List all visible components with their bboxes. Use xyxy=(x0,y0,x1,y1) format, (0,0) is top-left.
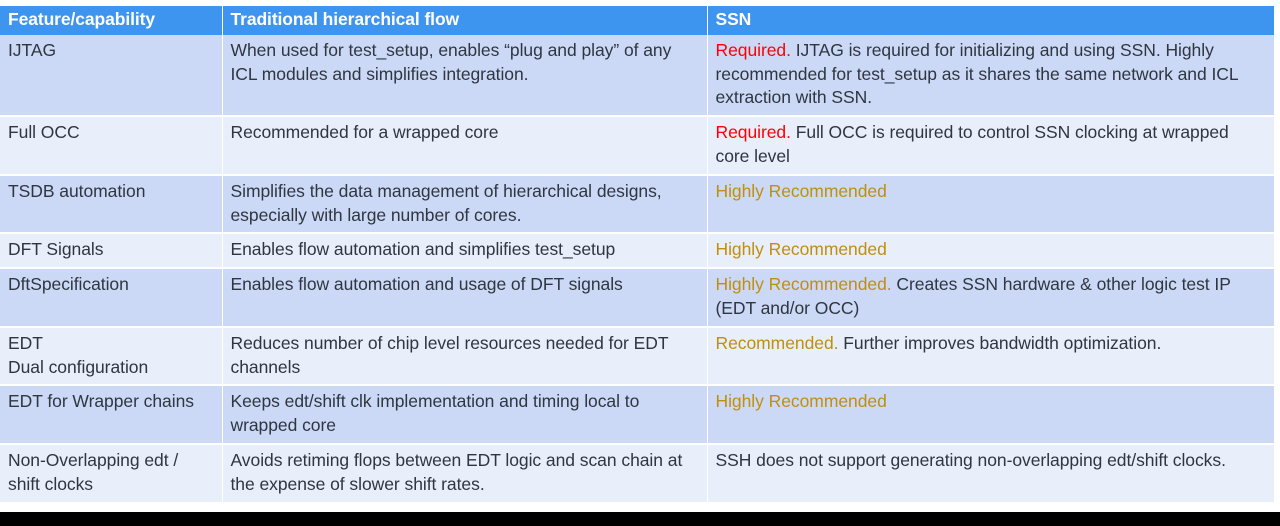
cell-traditional-flow: Keeps edt/shift clk implementation and t… xyxy=(222,385,707,444)
cell-traditional-flow: Recommended for a wrapped core xyxy=(222,116,707,175)
cell-feature: EDTDual configuration xyxy=(0,327,222,386)
cell-feature: Full OCC xyxy=(0,116,222,175)
comparison-table: Feature/capability Traditional hierarchi… xyxy=(0,6,1274,504)
cell-ssn: Highly Recommended xyxy=(707,385,1274,444)
cell-ssn: Highly Recommended xyxy=(707,233,1274,268)
cell-feature: DFT Signals xyxy=(0,233,222,268)
ssn-detail-text: Further improves bandwidth optimization. xyxy=(838,333,1161,353)
slide-canvas: Feature/capability Traditional hierarchi… xyxy=(0,0,1280,526)
cell-ssn: SSH does not support generating non-over… xyxy=(707,444,1274,503)
ssn-detail-text: IJTAG is required for initializing and u… xyxy=(716,40,1238,108)
ssn-status-label: Required. xyxy=(716,40,791,60)
cell-feature: TSDB automation xyxy=(0,175,222,234)
column-header-traditional-flow: Traditional hierarchical flow xyxy=(222,6,707,35)
cell-ssn: Recommended. Further improves bandwidth … xyxy=(707,327,1274,386)
table-row: IJTAGWhen used for test_setup, enables “… xyxy=(0,35,1274,116)
ssn-status-label: Highly Recommended xyxy=(716,181,887,201)
cell-ssn: Required. IJTAG is required for initiali… xyxy=(707,35,1274,116)
table-header-row: Feature/capability Traditional hierarchi… xyxy=(0,6,1274,35)
cell-feature: EDT for Wrapper chains xyxy=(0,385,222,444)
ssn-detail-text: SSH does not support generating non-over… xyxy=(716,450,1226,470)
cell-feature: DftSpecification xyxy=(0,268,222,327)
table-row: Full OCCRecommended for a wrapped coreRe… xyxy=(0,116,1274,175)
table-row: EDTDual configurationReduces number of c… xyxy=(0,327,1274,386)
cell-ssn: Required. Full OCC is required to contro… xyxy=(707,116,1274,175)
cell-traditional-flow: Reduces number of chip level resources n… xyxy=(222,327,707,386)
table-header: Feature/capability Traditional hierarchi… xyxy=(0,6,1274,35)
cell-traditional-flow: When used for test_setup, enables “plug … xyxy=(222,35,707,116)
column-header-feature: Feature/capability xyxy=(0,6,222,35)
table-row: DftSpecificationEnables flow automation … xyxy=(0,268,1274,327)
cell-traditional-flow: Avoids retiming flops between EDT logic … xyxy=(222,444,707,503)
comparison-table-container: Feature/capability Traditional hierarchi… xyxy=(0,6,1274,504)
cell-traditional-flow: Simplifies the data management of hierar… xyxy=(222,175,707,234)
cell-ssn: Highly Recommended xyxy=(707,175,1274,234)
ssn-status-label: Highly Recommended xyxy=(716,391,887,411)
bottom-black-band xyxy=(0,512,1280,526)
table-row: DFT SignalsEnables flow automation and s… xyxy=(0,233,1274,268)
ssn-detail-text: Full OCC is required to control SSN cloc… xyxy=(716,122,1229,166)
table-row: Non-Overlapping edt / shift clocksAvoids… xyxy=(0,444,1274,503)
table-body: IJTAGWhen used for test_setup, enables “… xyxy=(0,35,1274,503)
table-row: TSDB automationSimplifies the data manag… xyxy=(0,175,1274,234)
cell-traditional-flow: Enables flow automation and usage of DFT… xyxy=(222,268,707,327)
column-header-ssn: SSN xyxy=(707,6,1274,35)
ssn-status-label: Highly Recommended. xyxy=(716,274,892,294)
cell-feature: Non-Overlapping edt / shift clocks xyxy=(0,444,222,503)
cell-feature: IJTAG xyxy=(0,35,222,116)
cell-traditional-flow: Enables flow automation and simplifies t… xyxy=(222,233,707,268)
ssn-status-label: Required. xyxy=(716,122,791,142)
table-row: EDT for Wrapper chainsKeeps edt/shift cl… xyxy=(0,385,1274,444)
cell-ssn: Highly Recommended. Creates SSN hardware… xyxy=(707,268,1274,327)
ssn-status-label: Recommended. xyxy=(716,333,839,353)
ssn-status-label: Highly Recommended xyxy=(716,239,887,259)
